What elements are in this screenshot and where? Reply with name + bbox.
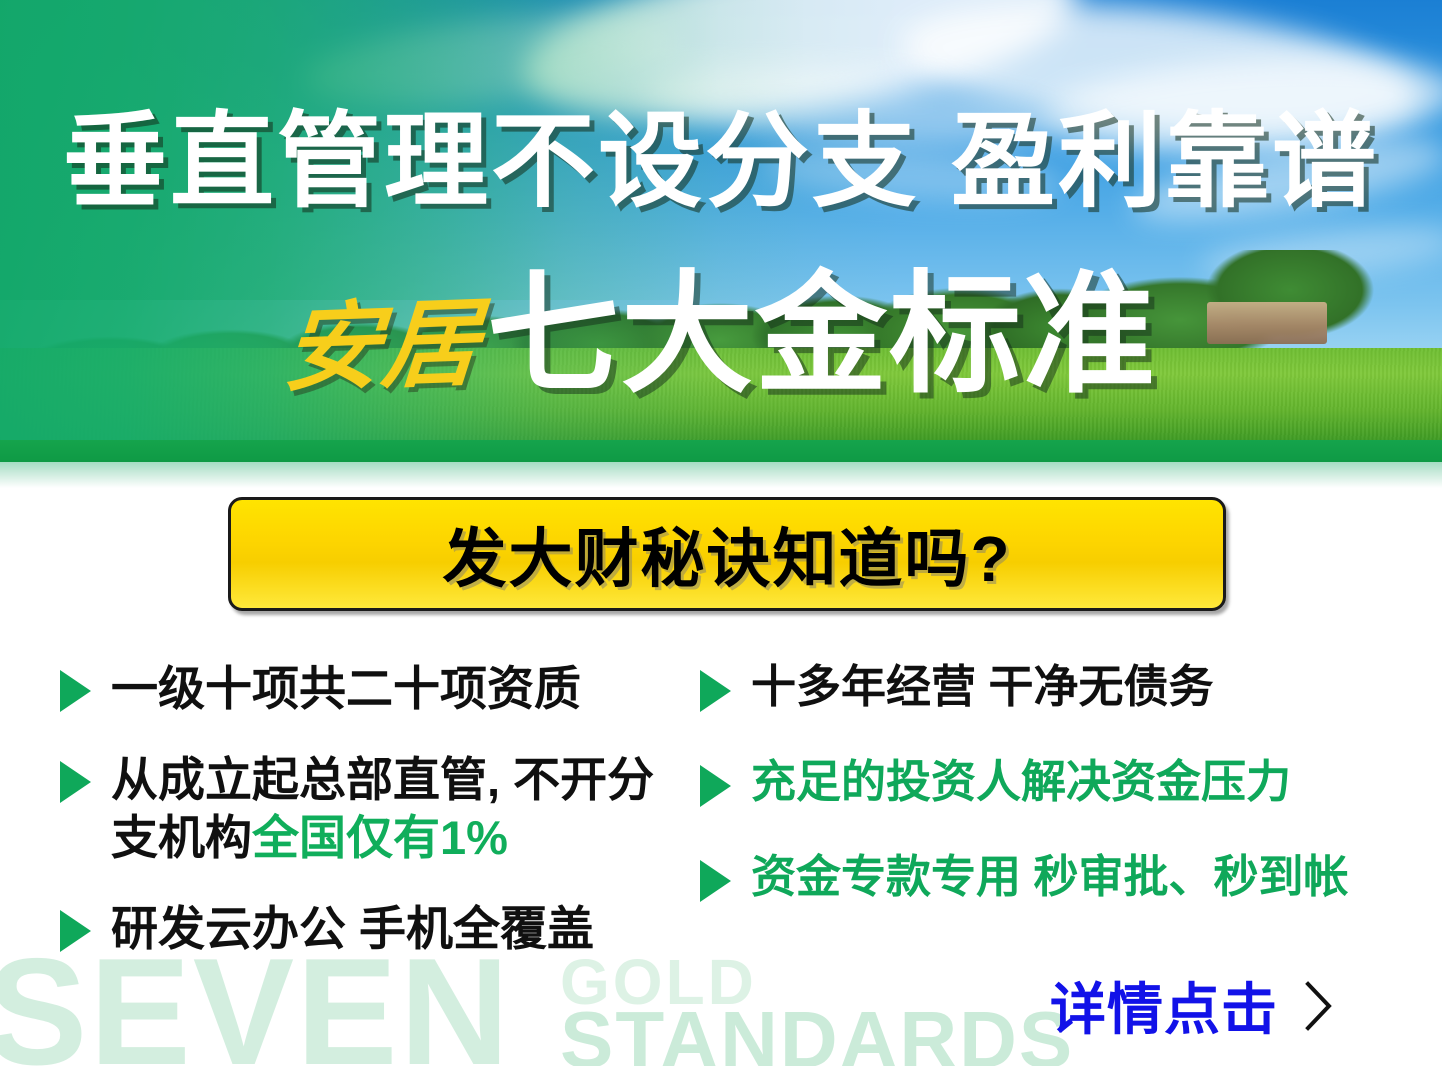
list-item[interactable]: 从成立起总部直管, 不开分支机构全国仅有1% <box>60 751 700 866</box>
list-item[interactable]: 一级十项共二十项资质 <box>60 660 700 717</box>
callout-text: 发大财秘诀知道吗? <box>442 508 1011 600</box>
hero-banner: 垂直管理不设分支 盈利靠谱 安居 七大金标准 <box>0 0 1442 462</box>
triangle-right-icon <box>700 860 731 902</box>
feature-text: 一级十项共二十项资质 <box>111 660 581 717</box>
list-item[interactable]: 十多年经营 干净无债务 <box>700 660 1420 715</box>
list-item[interactable]: 充足的投资人解决资金压力 <box>700 755 1420 810</box>
list-item[interactable]: 研发云办公 手机全覆盖 <box>60 900 700 957</box>
chevron-right-icon <box>1300 978 1336 1034</box>
brand-script-text: 安居 <box>280 265 486 411</box>
feature-text: 研发云办公 手机全覆盖 <box>111 900 594 957</box>
feature-text: 充足的投资人解决资金压力 <box>751 755 1291 810</box>
triangle-right-icon <box>60 910 91 952</box>
triangle-right-icon <box>60 670 91 712</box>
feature-text: 十多年经营 干净无债务 <box>751 660 1214 715</box>
features-column-right: 十多年经营 干净无债务 充足的投资人解决资金压力 资金专款专用 秒审批、秒到帐 <box>700 660 1420 945</box>
triangle-right-icon <box>700 765 731 807</box>
features-column-left: 一级十项共二十项资质 从成立起总部直管, 不开分支机构全国仅有1% 研发云办公 … <box>60 660 700 991</box>
feature-text-multiline: 从成立起总部直管, 不开分支机构全国仅有1% <box>111 751 671 866</box>
cta-details-button[interactable]: 详情点击 <box>1050 965 1336 1046</box>
callout-banner[interactable]: 发大财秘诀知道吗? <box>228 497 1226 611</box>
list-item[interactable]: 资金专款专用 秒审批、秒到帐 <box>700 850 1420 905</box>
features-section: 一级十项共二十项资质 从成立起总部直管, 不开分支机构全国仅有1% 研发云办公 … <box>0 660 1442 990</box>
feature-text: 资金专款专用 秒审批、秒到帐 <box>751 850 1349 905</box>
hero-headline: 垂直管理不设分支 盈利靠谱 <box>0 110 1442 214</box>
feature-text-highlight: 全国仅有1% <box>252 811 508 864</box>
hero-subheadline-row: 安居 七大金标准 <box>0 262 1442 401</box>
watermark-line-standards: STANDARDS <box>560 1000 1074 1066</box>
hero-subheadline: 七大金标准 <box>487 269 1157 401</box>
hero-bottom-band <box>0 440 1442 462</box>
triangle-right-icon <box>60 761 91 803</box>
cta-label: 详情点击 <box>1050 965 1278 1046</box>
hero-fade-divider <box>0 462 1442 488</box>
triangle-right-icon <box>700 670 731 712</box>
